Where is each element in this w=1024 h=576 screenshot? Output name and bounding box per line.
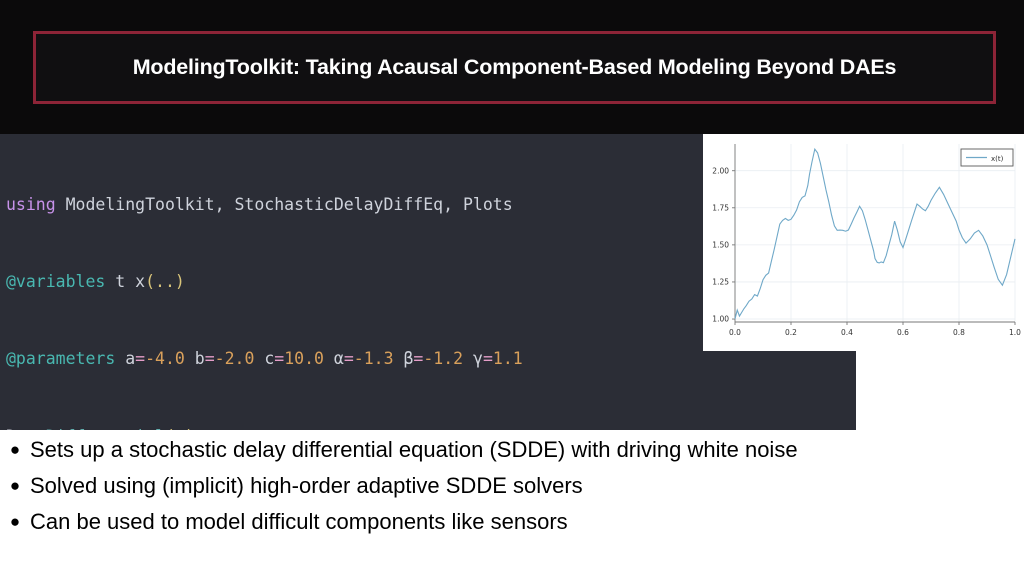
bullet-list: ● Sets up a stochastic delay differentia…	[0, 432, 1024, 576]
legend-label-xt: x(t)	[991, 155, 1004, 163]
code-token-eq3: =	[274, 349, 284, 368]
x-axis-tick-label: 0.2	[785, 328, 797, 337]
code-token-t2: t	[175, 427, 185, 430]
code-token-eq: =	[135, 349, 145, 368]
y-axis-tick-label: 2.00	[712, 166, 729, 175]
code-token-paren2: (	[165, 427, 175, 430]
plot-legend: x(t)	[961, 149, 1013, 166]
x-axis-tick-label: 1.0	[1009, 328, 1021, 337]
x-axis-tick-label: 0.6	[897, 328, 909, 337]
code-token-eq7: =	[26, 427, 36, 430]
code-token-eq5: =	[413, 349, 423, 368]
code-token-differential: Differential	[36, 427, 165, 430]
code-token-num2: -2.0	[215, 349, 255, 368]
code-token-D: D	[6, 427, 26, 430]
solution-plot: 0.00.20.40.60.81.0 1.001.251.501.752.00 …	[703, 134, 1024, 351]
code-token-num3: 10.0	[284, 349, 324, 368]
list-item: ● Solved using (implicit) high-order ada…	[0, 468, 1024, 504]
list-item: ● Can be used to model difficult compone…	[0, 504, 1024, 540]
code-token-num4: -1.3	[354, 349, 394, 368]
plot-background	[703, 134, 1024, 351]
code-token-beta: β	[394, 349, 414, 368]
code-token-num6: 1.1	[493, 349, 523, 368]
code-token-gamma: γ	[463, 349, 483, 368]
code-token-a: a	[115, 349, 135, 368]
bullet-marker-icon: ●	[0, 504, 30, 540]
bullet-text: Sets up a stochastic delay differential …	[30, 432, 798, 468]
bullet-marker-icon: ●	[0, 432, 30, 468]
code-token-alpha: α	[324, 349, 344, 368]
y-axis-tick-label: 1.25	[712, 278, 729, 287]
code-token-macro-parameters: @parameters	[6, 349, 115, 368]
list-item: ● Sets up a stochastic delay differentia…	[0, 432, 1024, 468]
code-token-num: -4.0	[145, 349, 185, 368]
code-line-4: D = Differential(t)	[6, 424, 856, 430]
code-token-macro-variables: @variables	[6, 272, 105, 291]
y-axis-tick-label: 1.50	[712, 240, 729, 249]
bullet-text: Can be used to model difficult component…	[30, 504, 568, 540]
title-band: ModelingToolkit: Taking Acausal Componen…	[0, 0, 1024, 134]
code-token-b: b	[185, 349, 205, 368]
page-title: ModelingToolkit: Taking Acausal Componen…	[133, 55, 897, 80]
bullet-marker-icon: ●	[0, 468, 30, 504]
x-axis-tick-label: 0.0	[729, 328, 741, 337]
code-token-eq2: =	[205, 349, 215, 368]
x-axis-tick-label: 0.8	[953, 328, 965, 337]
x-axis-tick-label: 0.4	[841, 328, 853, 337]
code-token-paren: (..)	[145, 272, 185, 291]
code-token-paren3: )	[185, 427, 195, 430]
solution-plot-panel: 0.00.20.40.60.81.0 1.001.251.501.752.00 …	[703, 134, 1024, 351]
title-box: ModelingToolkit: Taking Acausal Componen…	[33, 31, 996, 104]
code-token-c: c	[254, 349, 274, 368]
code-token-using: using	[6, 195, 56, 214]
bullet-text: Solved using (implicit) high-order adapt…	[30, 468, 583, 504]
y-axis-tick-label: 1.75	[712, 203, 729, 212]
code-token-eq4: =	[344, 349, 354, 368]
code-token-modules: ModelingToolkit, StochasticDelayDiffEq, …	[56, 195, 513, 214]
code-token-t: t x	[105, 272, 145, 291]
code-token-num5: -1.2	[423, 349, 463, 368]
y-axis-tick-label: 1.00	[712, 315, 729, 324]
code-token-eq6: =	[483, 349, 493, 368]
